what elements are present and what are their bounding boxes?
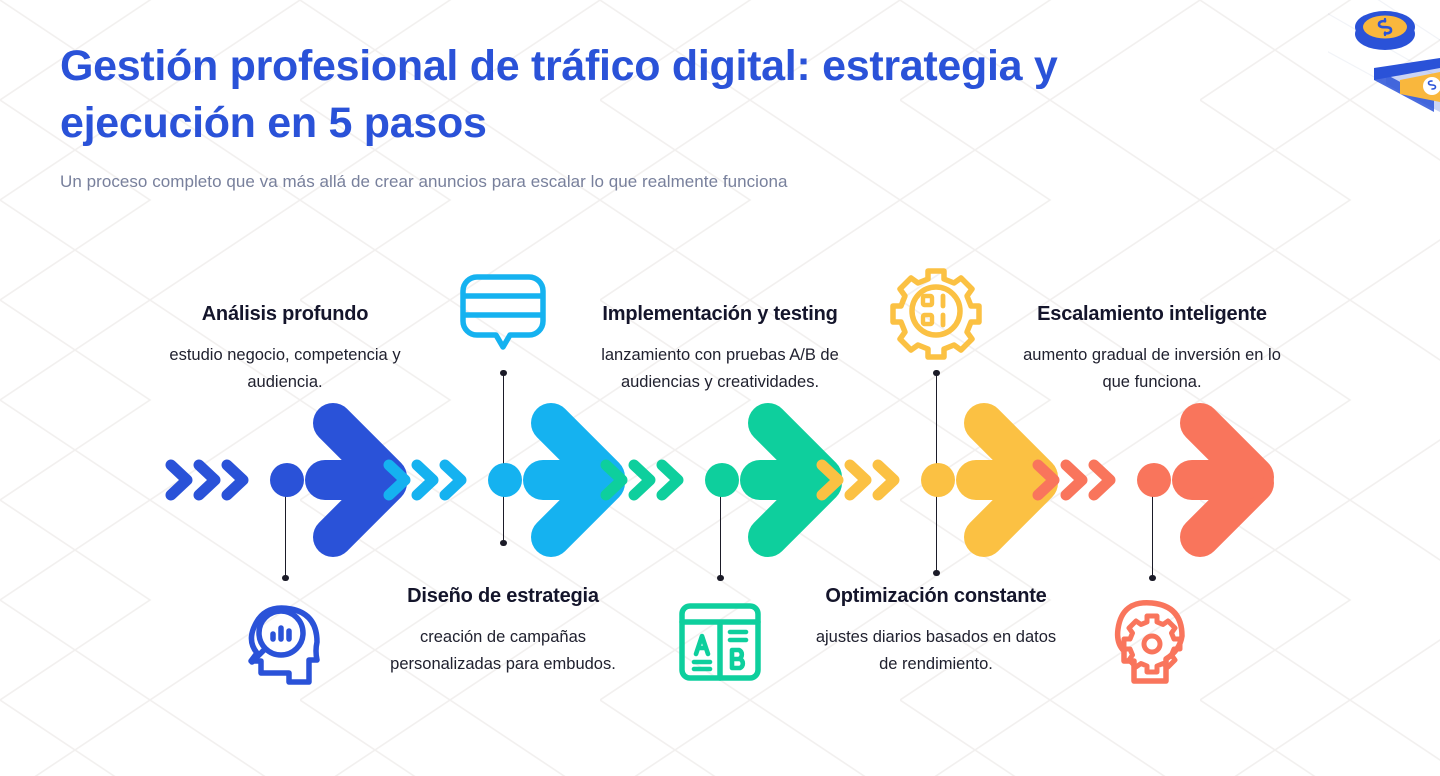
- head-with-magnifier-bar-chart-icon: [237, 596, 333, 688]
- step-5-chevron-ticks: [1038, 465, 1110, 495]
- step-5-arrow-group: [1022, 415, 1282, 545]
- speech-bubble-lines-icon: [455, 265, 551, 357]
- head-with-gear-icon: [1104, 596, 1200, 688]
- step-4-chevron-ticks: [822, 465, 894, 495]
- step-5-text-block: Escalamiento inteligente aumento gradual…: [1022, 298, 1282, 396]
- step-5-description: aumento gradual de inversión en lo que f…: [1022, 342, 1282, 396]
- step-5-node-dot: [1137, 463, 1171, 497]
- step-3-chevron-ticks: [606, 465, 678, 495]
- step-1-node-dot: [270, 463, 304, 497]
- step-1-chevron-ticks: [171, 465, 243, 495]
- process-step-5: Escalamiento inteligente aumento gradual…: [1022, 0, 1282, 776]
- step-5-title: Escalamiento inteligente: [1022, 298, 1282, 330]
- gear-with-binary-digits-icon: [888, 265, 984, 357]
- step-2-chevron-ticks: [389, 465, 461, 495]
- step-2-node-dot: [488, 463, 522, 497]
- ab-test-panels-icon: [672, 596, 768, 688]
- step-5-big-arrow: [1192, 423, 1254, 537]
- step-3-node-dot: [705, 463, 739, 497]
- step-4-node-dot: [921, 463, 955, 497]
